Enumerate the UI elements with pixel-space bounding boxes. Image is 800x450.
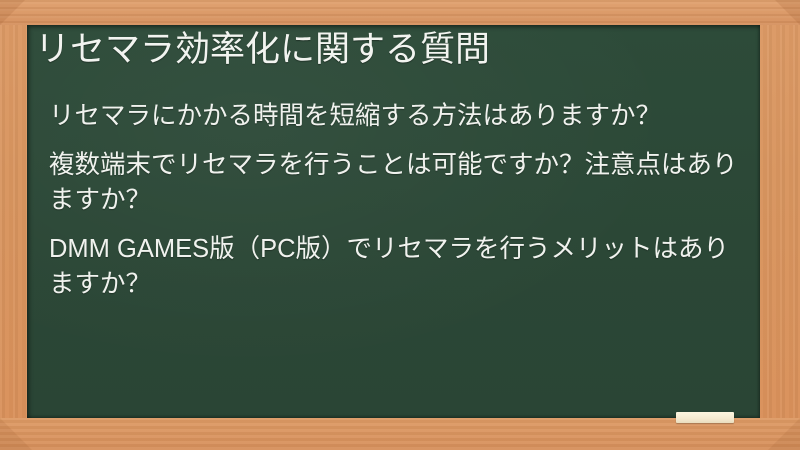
page-title: リセマラ効率化に関する質問 [35, 29, 751, 72]
frame-miter-top-left [0, 0, 25, 25]
list-item: リセマラにかかる時間を短縮する方法はありますか？ [49, 99, 749, 134]
list-item: 複数端末でリセマラを行うことは可能ですか？注意点はありますか？ [49, 148, 749, 218]
frame-miter-bottom-left [0, 418, 32, 450]
list-item: DMM GAMES版（PC版）でリセマラを行うメリットはありますか？ [49, 232, 749, 302]
chalkboard-surface: リセマラ効率化に関する質問 リセマラにかかる時間を短縮する方法はありますか？ 複… [27, 25, 760, 418]
frame-miter-top-right [775, 0, 800, 25]
frame-miter-bottom-right [768, 418, 800, 450]
frame-rail-top [0, 0, 800, 25]
chalk-stick [676, 412, 734, 423]
chalkboard-content: リセマラ効率化に関する質問 リセマラにかかる時間を短縮する方法はありますか？ 複… [27, 25, 760, 418]
question-list: リセマラにかかる時間を短縮する方法はありますか？ 複数端末でリセマラを行うことは… [49, 99, 749, 316]
chalkboard-slide: リセマラ効率化に関する質問 リセマラにかかる時間を短縮する方法はありますか？ 複… [0, 0, 800, 450]
